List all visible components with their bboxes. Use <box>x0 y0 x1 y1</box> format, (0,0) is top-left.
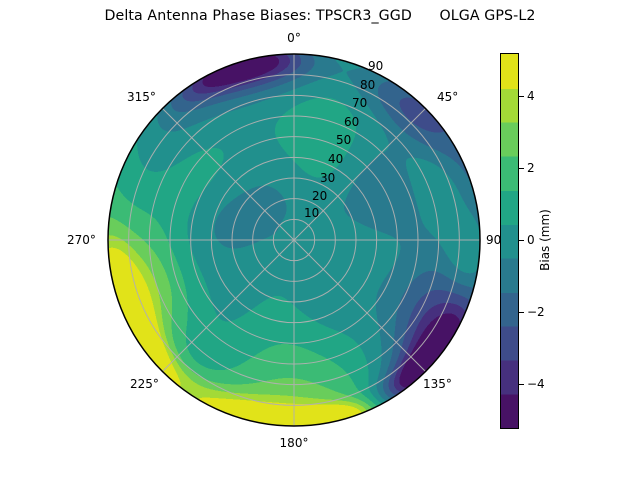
polar-radius-label-50: 50 <box>336 134 351 146</box>
polar-angle-label-90: 90 <box>486 234 501 246</box>
colorbar-tick-m4-mark <box>519 384 524 385</box>
polar-radius-label-40: 40 <box>328 153 343 165</box>
colorbar-tick-4-mark <box>519 96 524 97</box>
polar-angle-label-180: 180° <box>280 437 309 449</box>
page-title: Delta Antenna Phase Biases: TPSCR3_GGD O… <box>0 8 640 24</box>
polar-angle-label-225: 225° <box>130 378 159 390</box>
polar-radius-label-90: 90 <box>368 60 383 72</box>
colorbar-tick-2: 2 <box>527 162 535 174</box>
polar-angle-label-135: 135° <box>423 378 452 390</box>
colorbar-tick-0-mark <box>519 240 524 241</box>
colorbar-gradient <box>500 53 519 429</box>
polar-radius-label-60: 60 <box>344 116 359 128</box>
colorbar-tick-m4: −4 <box>527 378 545 390</box>
polar-angle-label-45: 45° <box>437 91 458 103</box>
colorbar-tick-m2: −2 <box>527 306 545 318</box>
polar-radius-label-30: 30 <box>320 172 335 184</box>
polar-radius-label-70: 70 <box>352 97 367 109</box>
matplotlib-figure: Delta Antenna Phase Biases: TPSCR3_GGD O… <box>0 0 640 480</box>
polar-radius-label-10: 10 <box>304 207 319 219</box>
polar-angle-label-315: 315° <box>127 91 156 103</box>
colorbar-tick-0: 0 <box>527 234 535 246</box>
polar-contour-plot <box>104 50 484 430</box>
colorbar-tick-m2-mark <box>519 312 524 313</box>
polar-radius-label-80: 80 <box>360 79 375 91</box>
colorbar-tick-2-mark <box>519 168 524 169</box>
polar-radius-label-20: 20 <box>312 190 327 202</box>
colorbar: 420−2−4 <box>500 53 517 427</box>
polar-angle-label-0: 0° <box>287 32 301 44</box>
colorbar-tick-4: 4 <box>527 90 535 102</box>
colorbar-axis-label: Bias (mm) <box>539 209 551 271</box>
polar-angle-label-270: 270° <box>67 234 96 246</box>
